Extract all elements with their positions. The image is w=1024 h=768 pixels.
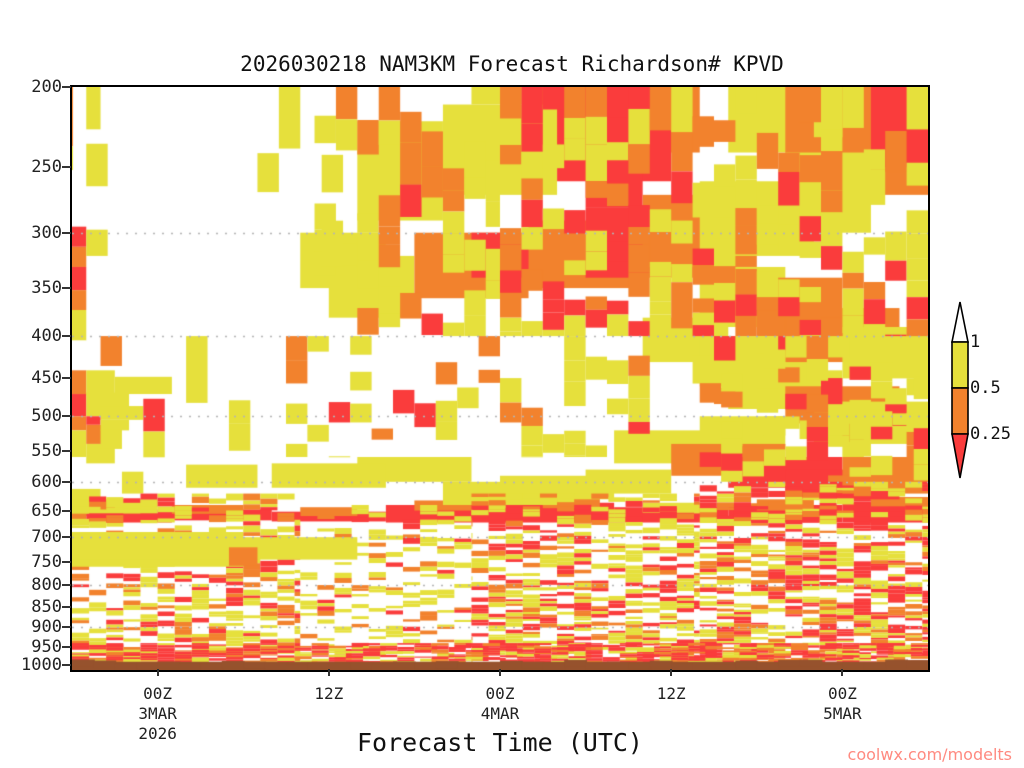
colorbar-legend: 1 0.5 0.25 [938, 298, 1024, 483]
y-tick-mark-400 [62, 335, 71, 337]
x-tick-group-2: 00Z4MAR [481, 684, 520, 724]
x-tick-time-4: 00Z [823, 684, 862, 704]
x-tick-time-0: 00Z [138, 684, 177, 704]
x-tick-mark-3 [670, 669, 672, 676]
y-tick-mark-350 [62, 287, 71, 289]
y-tick-mark-850 [62, 606, 71, 608]
x-tick-time-3: 12Z [657, 684, 686, 704]
y-tick-mark-750 [62, 561, 71, 563]
x-tick-group-4: 00Z5MAR [823, 684, 862, 724]
x-tick-mark-4 [841, 669, 843, 676]
plot-area [70, 85, 930, 672]
y-tick-mark-550 [62, 450, 71, 452]
y-tick-mark-250 [62, 166, 71, 168]
x-tick-date-2: 4MAR [481, 704, 520, 724]
colorbar-label-025: 0.25 [970, 424, 1011, 444]
colorbar-band-orange [952, 388, 968, 434]
y-tick-mark-1000 [62, 664, 71, 666]
x-tick-mark-0 [157, 669, 159, 676]
x-tick-group-1: 12Z [314, 684, 343, 704]
x-tick-date-0: 3MAR [138, 704, 177, 724]
x-tick-time-1: 12Z [314, 684, 343, 704]
colorbar-label-1: 1 [970, 332, 980, 352]
y-tick-mark-200 [62, 86, 71, 88]
y-axis-ticks [0, 85, 80, 672]
y-tick-mark-450 [62, 377, 71, 379]
y-tick-mark-650 [62, 510, 71, 512]
x-axis-title: Forecast Time (UTC) [70, 728, 930, 757]
chart-root: 2026030218 NAM3KM Forecast Richardson# K… [0, 0, 1024, 768]
colorbar-below-025-cap [952, 434, 968, 478]
x-tick-time-2: 00Z [481, 684, 520, 704]
x-tick-date-4: 5MAR [823, 704, 862, 724]
colorbar-label-05: 0.5 [970, 378, 1001, 398]
y-tick-mark-300 [62, 232, 71, 234]
y-tick-mark-900 [62, 626, 71, 628]
x-tick-mark-2 [499, 669, 501, 676]
y-tick-mark-950 [62, 646, 71, 648]
y-tick-mark-500 [62, 415, 71, 417]
heatmap-canvas [72, 87, 928, 670]
colorbar-band-yellow [952, 342, 968, 388]
y-tick-mark-700 [62, 536, 71, 538]
y-tick-mark-600 [62, 481, 71, 483]
x-tick-group-3: 12Z [657, 684, 686, 704]
watermark: coolwx.com/modelts [848, 745, 1012, 764]
page-title: 2026030218 NAM3KM Forecast Richardson# K… [0, 52, 1024, 76]
x-tick-mark-1 [328, 669, 330, 676]
y-tick-mark-800 [62, 584, 71, 586]
colorbar-above-1-cap [952, 302, 968, 342]
